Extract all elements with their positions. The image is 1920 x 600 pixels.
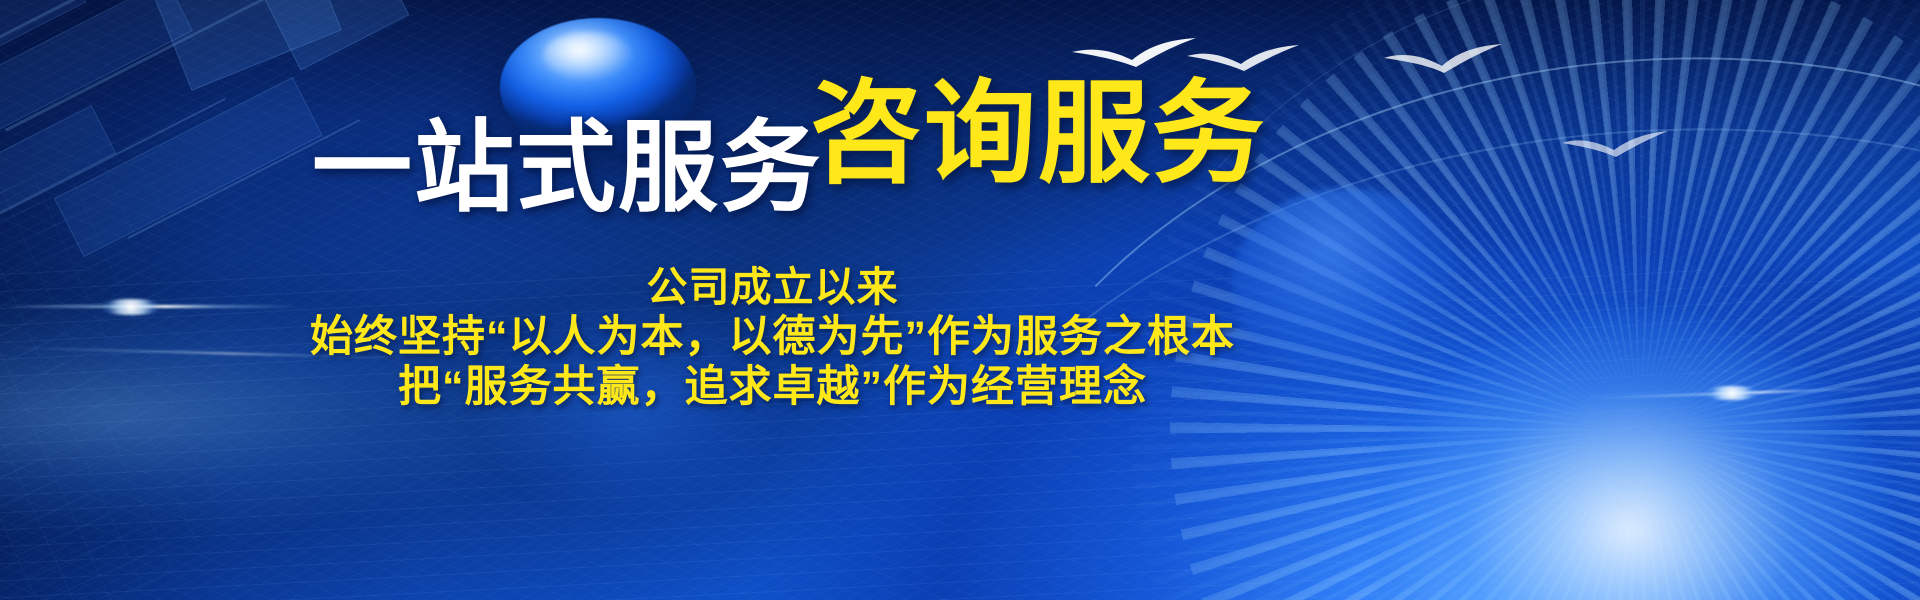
promo-banner: 一站式服务 咨询服务 公司成立以来 始终坚持“以人为本，以德为先”作为服务之根本… [0,0,1920,600]
seagull-icon [1185,44,1303,74]
lens-flare-dot-left [96,299,166,315]
seagull-icon [1382,42,1506,76]
seagull-icon [1560,130,1672,160]
lens-flare-dot-right [1700,386,1764,400]
seagull-icon [1070,36,1200,70]
secondary-orb [1232,188,1462,378]
glossy-sphere-icon [500,18,696,156]
left-light-glow [0,300,580,530]
